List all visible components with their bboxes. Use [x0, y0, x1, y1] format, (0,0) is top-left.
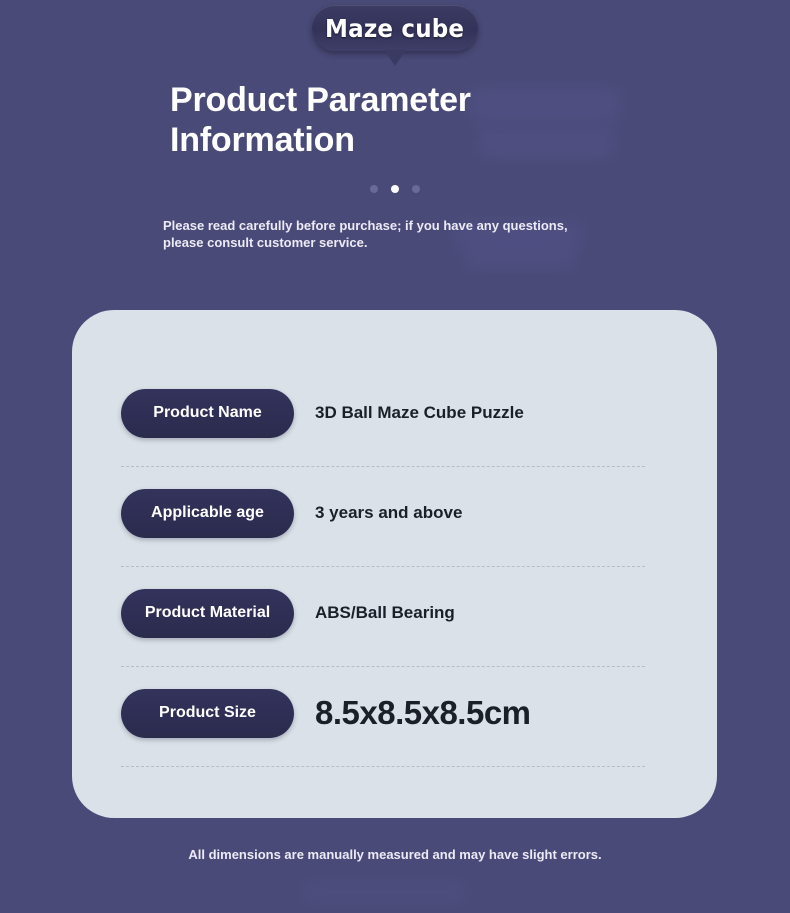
spec-label-product-name: Product Name [121, 389, 294, 438]
spec-card: Product Name 3D Ball Maze Cube Puzzle Ap… [72, 310, 717, 818]
background-watermark-blob [300, 880, 470, 904]
spec-row-divider [121, 766, 645, 767]
spec-row-divider [121, 466, 645, 467]
purchase-notice-line-1: Please read carefully before purchase; i… [163, 217, 613, 234]
page-title: Product Parameter Information [170, 80, 590, 160]
spec-list: Product Name 3D Ball Maze Cube Puzzle Ap… [121, 374, 645, 774]
spec-value-product-size: 8.5x8.5x8.5cm [315, 694, 531, 732]
purchase-notice: Please read carefully before purchase; i… [163, 217, 613, 251]
spec-value-product-material: ABS/Ball Bearing [315, 603, 455, 623]
spec-row: Applicable age 3 years and above [121, 474, 645, 574]
product-name-badge: Maze cube [312, 5, 478, 51]
spec-row-divider [121, 666, 645, 667]
spec-label-applicable-age: Applicable age [121, 489, 294, 538]
page-title-line-1: Product Parameter [170, 80, 590, 120]
product-parameter-page: Maze cube Product Parameter Information … [0, 0, 790, 913]
spec-label-product-material: Product Material [121, 589, 294, 638]
spec-value-applicable-age: 3 years and above [315, 503, 462, 523]
measurement-disclaimer: All dimensions are manually measured and… [0, 847, 790, 862]
carousel-dot-3[interactable] [412, 185, 420, 193]
page-title-line-2: Information [170, 120, 590, 160]
spec-value-product-name: 3D Ball Maze Cube Puzzle [315, 403, 524, 423]
spec-label-product-size: Product Size [121, 689, 294, 738]
carousel-dot-2-active[interactable] [391, 185, 399, 193]
badge-bubble: Maze cube [312, 5, 478, 51]
carousel-dots[interactable] [0, 185, 790, 193]
spec-row: Product Material ABS/Ball Bearing [121, 574, 645, 674]
spec-row-divider [121, 566, 645, 567]
badge-label: Maze cube [325, 14, 464, 43]
carousel-dot-1[interactable] [370, 185, 378, 193]
spec-row: Product Size 8.5x8.5x8.5cm [121, 674, 645, 774]
purchase-notice-line-2: please consult customer service. [163, 234, 613, 251]
badge-tail-icon [384, 50, 406, 66]
spec-row: Product Name 3D Ball Maze Cube Puzzle [121, 374, 645, 474]
